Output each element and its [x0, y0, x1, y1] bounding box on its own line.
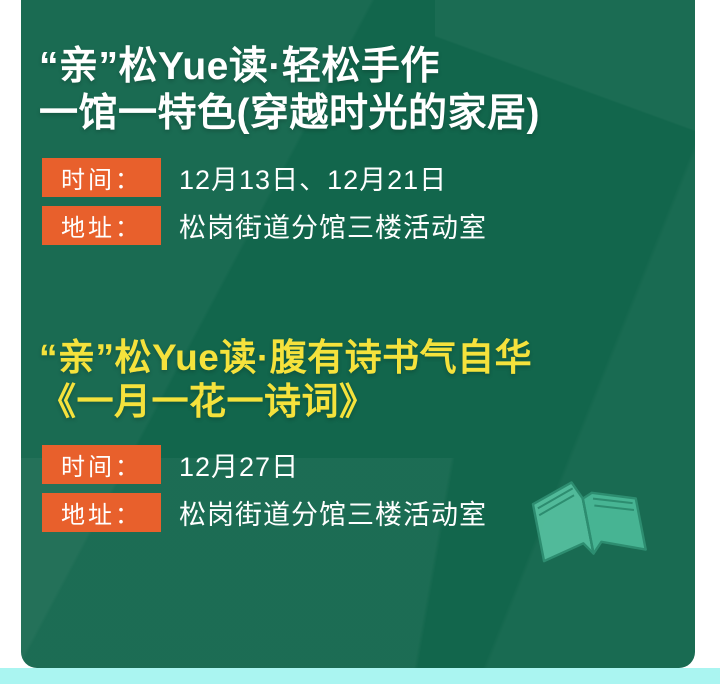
poster-root: “亲”松Yue读·轻松手作 一馆一特色(穿越时光的家居) 时间： 12月13日、… [0, 0, 720, 684]
poster-content: “亲”松Yue读·轻松手作 一馆一特色(穿越时光的家居) 时间： 12月13日、… [21, 0, 695, 668]
event-two-title-line-2: 《一月一花一诗词》 [39, 380, 695, 424]
event-one-title-line-2: 一馆一特色(穿越时光的家居) [39, 91, 695, 138]
event-one-heading-wrap: “亲”松Yue读·轻松手作 一馆一特色(穿越时光的家居) [21, 44, 695, 138]
event-one-time-value: 12月13日、12月21日 [161, 158, 695, 197]
event-two-heading-wrap: “亲”松Yue读·腹有诗书气自华 《一月一花一诗词》 [21, 336, 695, 425]
event-two-title-line-1: “亲”松Yue读·腹有诗书气自华 [39, 336, 695, 380]
event-one-time-label: 时间： [42, 158, 161, 197]
event-one-info-rows: 时间： 12月13日、12月21日 地址： 松岗街道分馆三楼活动室 [21, 158, 695, 245]
event-one-address-value: 松岗街道分馆三楼活动室 [161, 206, 695, 245]
event-one-title-line-1: “亲”松Yue读·轻松手作 [39, 44, 695, 91]
event-one-time-row: 时间： 12月13日、12月21日 [21, 158, 695, 197]
event-one-title: “亲”松Yue读·轻松手作 一馆一特色(穿越时光的家居) [39, 44, 695, 138]
poster-green-panel: “亲”松Yue读·轻松手作 一馆一特色(穿越时光的家居) 时间： 12月13日、… [21, 0, 695, 668]
bottom-accent-strip [0, 668, 720, 684]
event-two-title: “亲”松Yue读·腹有诗书气自华 《一月一花一诗词》 [39, 336, 695, 425]
event-block-one: “亲”松Yue读·轻松手作 一馆一特色(穿越时光的家居) 时间： 12月13日、… [21, 44, 695, 254]
event-one-address-row: 地址： 松岗街道分馆三楼活动室 [21, 206, 695, 245]
event-two-time-label: 时间： [42, 445, 161, 484]
event-one-address-label: 地址： [42, 206, 161, 245]
open-book-icon [529, 468, 647, 572]
event-two-address-label: 地址： [42, 493, 161, 532]
